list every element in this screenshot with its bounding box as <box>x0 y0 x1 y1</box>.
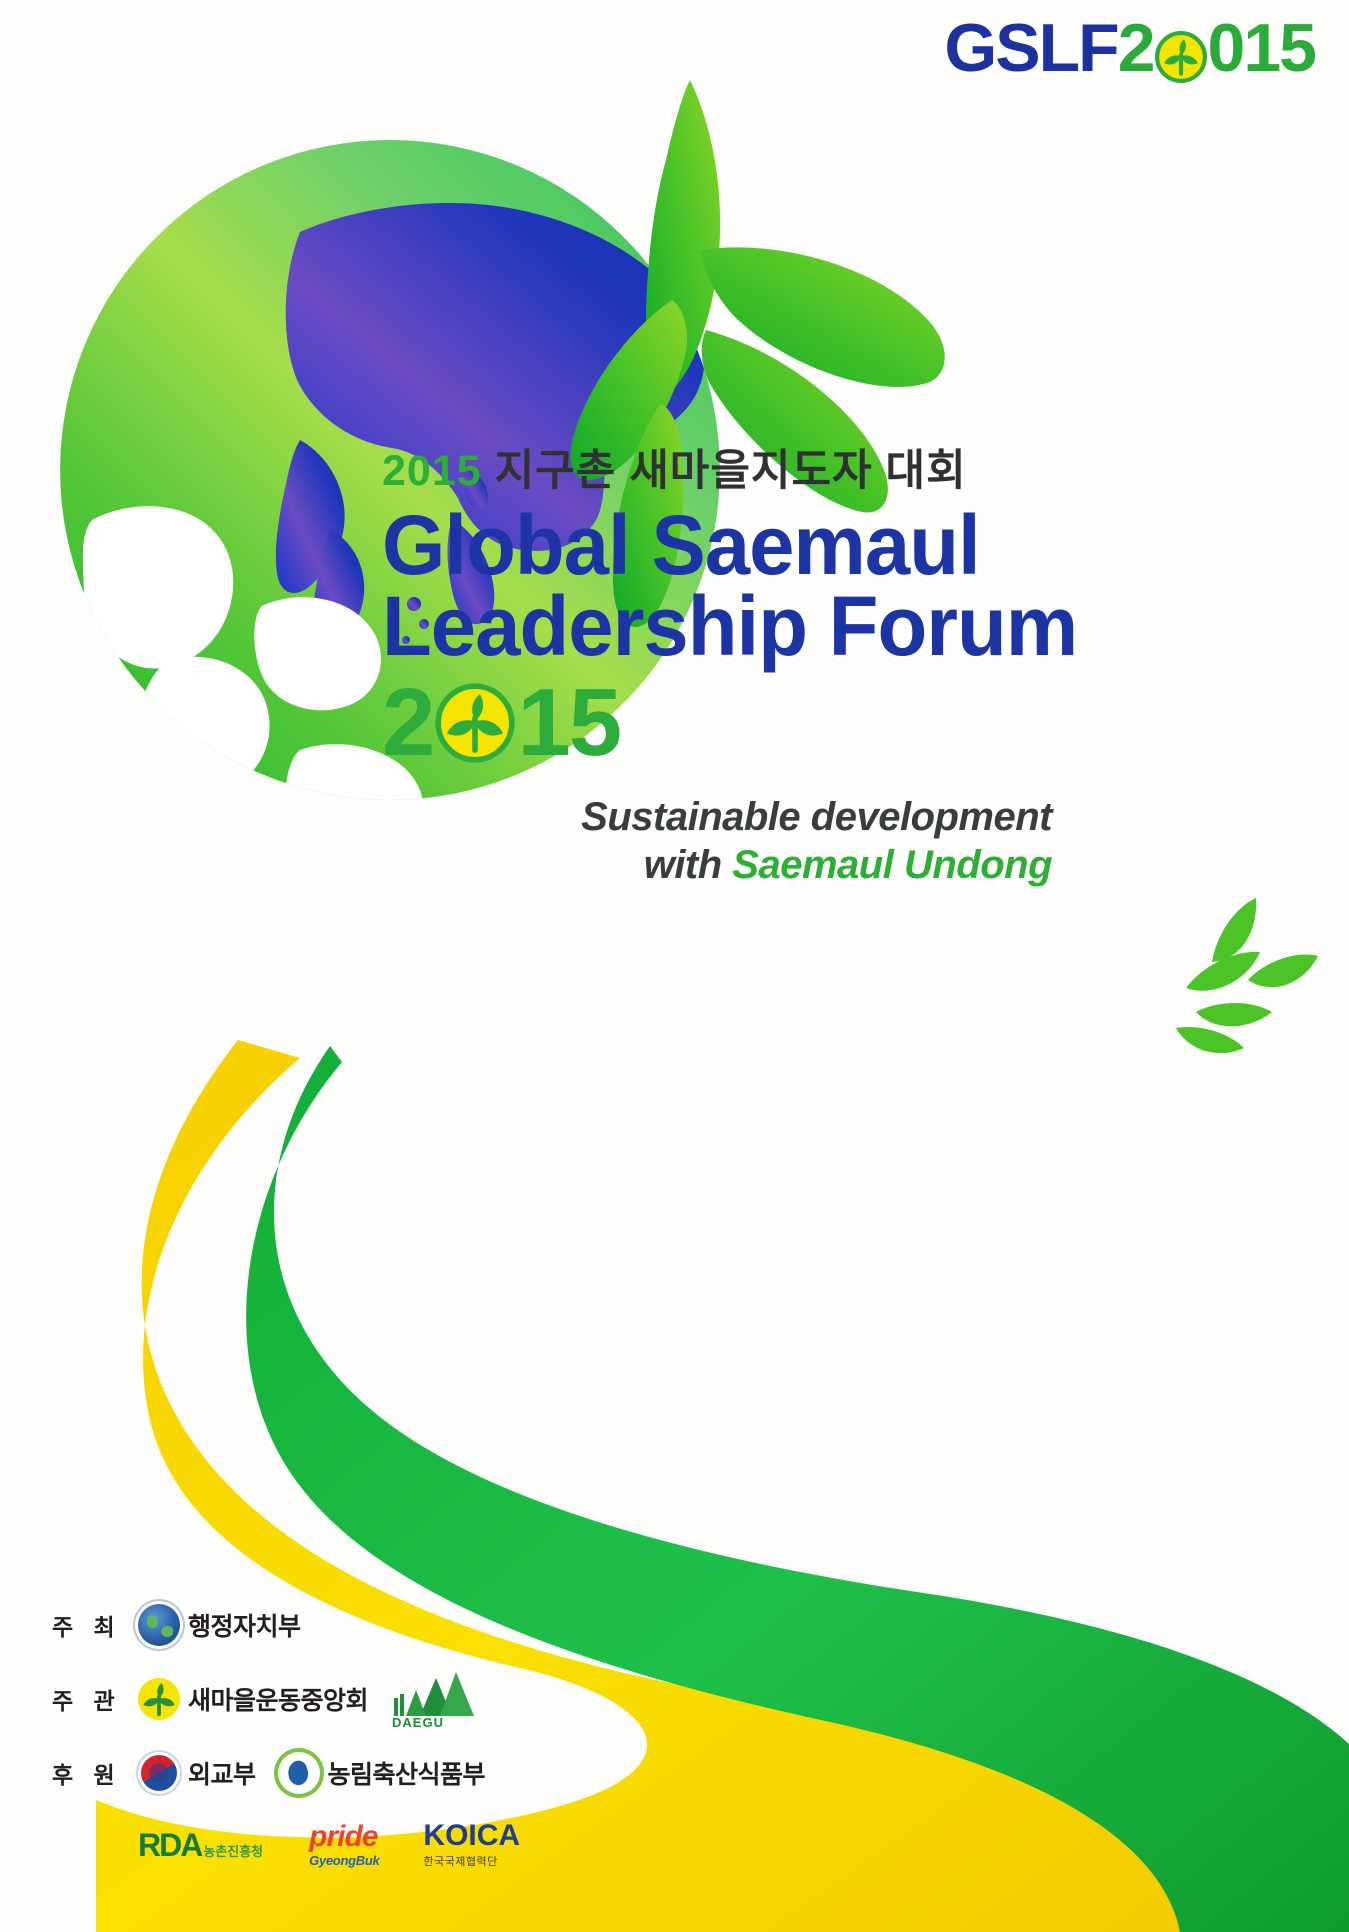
sponsor-label-organizer: 주 관 <box>52 1682 138 1716</box>
sponsor-name-mafra: 농림축산식품부 <box>328 1755 486 1791</box>
tagline-block: Sustainable development with Saemaul Und… <box>382 793 1062 891</box>
gslf-brand-mark: GSLF 2 015 <box>944 14 1315 82</box>
koica-korean-name: 한국국제협력단 <box>423 1853 520 1869</box>
daegu-label: DAEGU <box>392 1715 444 1730</box>
rda-korean-name: 농촌진흥청 <box>203 1841 263 1860</box>
mogaha-globe-emblem <box>138 1604 180 1646</box>
sponsor-name-mofa: 외교부 <box>188 1755 256 1791</box>
tagline-prefix: with <box>644 843 733 887</box>
sponsor-label-support: 후 원 <box>52 1756 138 1790</box>
sponsor-entry-mafra: 농림축산식품부 <box>278 1752 486 1794</box>
sponsor-name-saemaul: 새마을운동중앙회 <box>188 1681 368 1717</box>
pride-wordmark: pride <box>309 1822 379 1852</box>
korean-year: 2015 <box>382 447 482 495</box>
pride-region-label: GyeongBuk <box>309 1853 379 1868</box>
koica-logo: KOICA 한국국제협력단 <box>423 1821 520 1869</box>
korean-title: 지구촌 새마을지도자 대회 <box>495 447 967 495</box>
tagline-highlight: Saemaul Undong <box>732 843 1052 887</box>
sponsor-name-mogaha: 행정자치부 <box>188 1607 301 1643</box>
saemaul-sprout-emblem <box>138 1678 180 1720</box>
gslf-digits-after: 015 <box>1208 14 1315 82</box>
koica-acronym: KOICA <box>423 1821 520 1851</box>
leaf-accent-graphic <box>1176 898 1318 1053</box>
tagline-line1: Sustainable development <box>382 793 1052 842</box>
english-title-line1: Global Saemaul <box>382 505 1042 586</box>
sponsor-section: 주 최 행정자치부 주 관 새마을운동중앙회 <box>52 1588 572 1880</box>
sponsor-row-support: 후 원 외교부 농림축산식품부 <box>52 1736 572 1810</box>
sponsor-row-host: 주 최 행정자치부 <box>52 1588 572 1662</box>
mafra-ring-emblem <box>278 1752 320 1794</box>
year-logo-2015: 2 15 <box>382 675 1062 771</box>
tagline-line2: with Saemaul Undong <box>382 841 1052 890</box>
headline-block: 2015 지구촌 새마을지도자 대회 Global Saemaul Leader… <box>382 448 1062 890</box>
sprout-in-circle-emblem <box>435 683 515 763</box>
korean-headline: 2015 지구촌 새마을지도자 대회 <box>382 448 1062 495</box>
rda-logo: RDA 농촌진흥청 <box>138 1829 263 1861</box>
rda-acronym: RDA <box>138 1829 201 1861</box>
english-title-line2: Leadership Forum <box>382 586 1042 667</box>
mofa-taeguk-emblem <box>138 1752 180 1794</box>
sponsor-row-organizer: 주 관 새마을운동중앙회 <box>52 1662 572 1736</box>
gslf-prefix: GSLF <box>944 14 1117 82</box>
pride-gyeongbuk-logo: pride GyeongBuk <box>309 1822 379 1868</box>
sponsor-entry-mogaha: 행정자치부 <box>138 1604 301 1646</box>
sponsor-entry-daegu: DAEGU <box>390 1668 474 1730</box>
daegu-mountain-logo: DAEGU <box>390 1668 474 1730</box>
poster-canvas: GSLF 2 015 2015 지구촌 새마을지도자 대회 Global Sae… <box>0 0 1349 1932</box>
sponsor-entry-mofa: 외교부 <box>138 1752 256 1794</box>
year-digit-before: 2 <box>382 675 433 771</box>
sponsor-row-partners: RDA 농촌진흥청 pride GyeongBuk KOICA 한국국제협력단 <box>52 1810 572 1880</box>
sprout-in-circle-emblem <box>1155 26 1207 78</box>
sponsor-entry-saemaul: 새마을운동중앙회 <box>138 1678 368 1720</box>
sponsor-label-host: 주 최 <box>52 1608 138 1642</box>
year-digits-after: 15 <box>517 675 620 771</box>
gslf-digit-before: 2 <box>1118 14 1154 82</box>
